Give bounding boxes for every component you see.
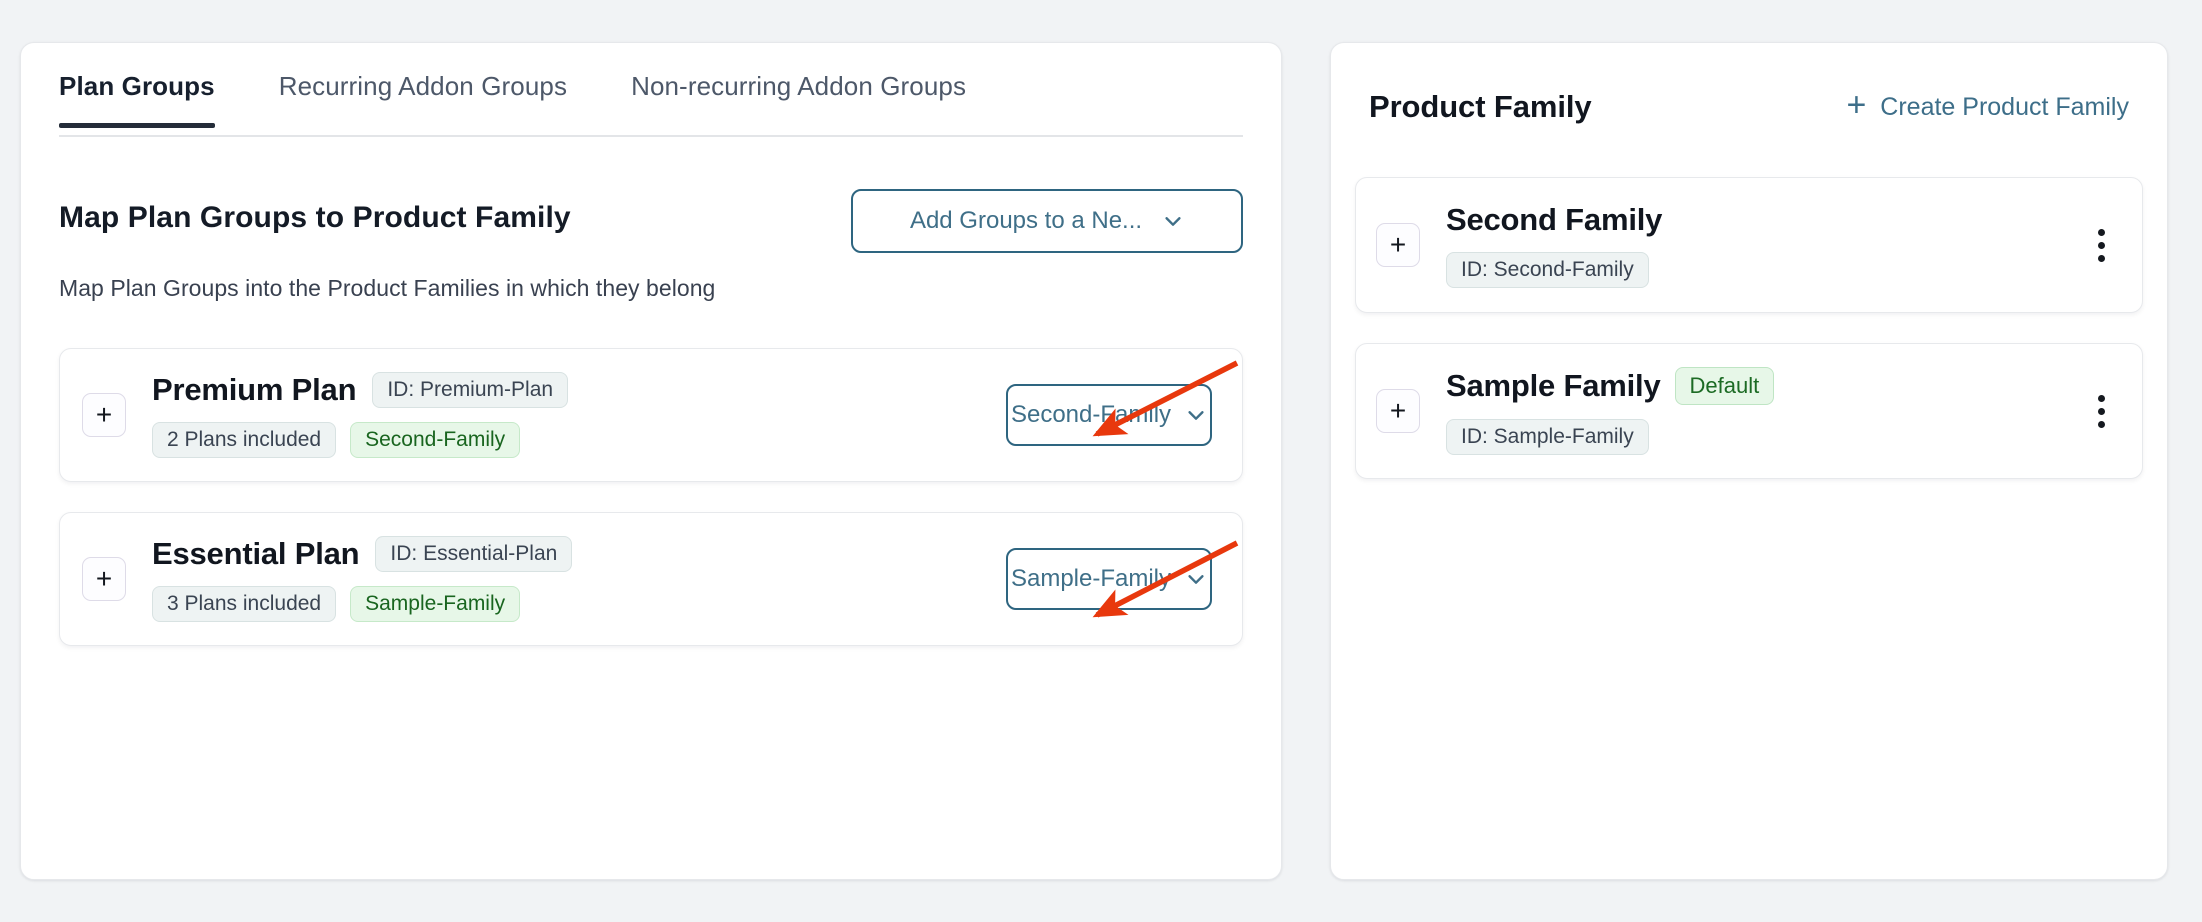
expand-plus-icon[interactable]: + (82, 393, 126, 437)
family-select-value: Sample-Family (1011, 565, 1171, 593)
plan-group-meta-row: 2 Plans included Second-Family (152, 422, 1006, 458)
list-item[interactable]: + Sample Family Default ID: Sample-Famil… (1355, 343, 2143, 479)
plan-group-info: Premium Plan ID: Premium-Plan 2 Plans in… (152, 372, 1006, 458)
tab-recurring-addon-groups[interactable]: Recurring Addon Groups (279, 43, 567, 102)
kebab-menu-icon[interactable] (2086, 389, 2116, 433)
product-family-info: Sample Family Default ID: Sample-Family (1446, 367, 2086, 455)
section-header: Map Plan Groups to Product Family Add Gr… (59, 189, 1243, 253)
chevron-down-icon (1162, 210, 1184, 232)
tab-plan-groups[interactable]: Plan Groups (59, 43, 215, 102)
add-groups-select[interactable]: Add Groups to a Ne... (851, 189, 1243, 253)
tab-plan-groups-label: Plan Groups (59, 71, 215, 101)
tab-non-recurring-addon-groups-label: Non-recurring Addon Groups (631, 71, 966, 101)
tab-bar: Plan Groups Recurring Addon Groups Non-r… (59, 43, 1243, 137)
plan-group-info: Essential Plan ID: Essential-Plan 3 Plan… (152, 536, 1006, 622)
chevron-down-icon (1185, 404, 1207, 426)
plus-icon: + (1846, 88, 1866, 122)
product-family-info: Second Family ID: Second-Family (1446, 202, 2086, 288)
plans-included-badge: 3 Plans included (152, 586, 336, 622)
kebab-menu-icon[interactable] (2086, 223, 2116, 267)
assigned-family-badge: Second-Family (350, 422, 520, 458)
plan-group-name: Essential Plan (152, 536, 359, 572)
chevron-down-icon (1185, 568, 1207, 590)
add-groups-select-value: Add Groups to a Ne... (910, 207, 1142, 235)
create-product-family-button[interactable]: + Create Product Family (1846, 90, 2129, 124)
expand-plus-icon[interactable]: + (1376, 389, 1420, 433)
plan-group-id-badge: ID: Premium-Plan (372, 372, 568, 408)
table-row[interactable]: + Essential Plan ID: Essential-Plan 3 Pl… (59, 512, 1243, 646)
assigned-family-badge: Sample-Family (350, 586, 520, 622)
family-select-essential-plan[interactable]: Sample-Family (1006, 548, 1212, 610)
product-family-title-row: Second Family (1446, 202, 2086, 238)
product-family-title-row: Sample Family Default (1446, 367, 2086, 405)
product-family-meta-row: ID: Second-Family (1446, 252, 2086, 288)
plan-group-title-row: Premium Plan ID: Premium-Plan (152, 372, 1006, 408)
product-family-title: Product Family (1369, 89, 1592, 125)
plan-group-list: + Premium Plan ID: Premium-Plan 2 Plans … (59, 348, 1243, 646)
plan-group-title-row: Essential Plan ID: Essential-Plan (152, 536, 1006, 572)
expand-plus-icon[interactable]: + (1376, 223, 1420, 267)
product-family-header: Product Family + Create Product Family (1331, 43, 2167, 125)
tab-non-recurring-addon-groups[interactable]: Non-recurring Addon Groups (631, 43, 966, 102)
product-family-name: Second Family (1446, 202, 1662, 238)
family-select-value: Second-Family (1011, 401, 1171, 429)
product-family-list: + Second Family ID: Second-Family + Samp… (1331, 125, 2167, 479)
section-subtitle: Map Plan Groups into the Product Familie… (59, 275, 1243, 302)
create-product-family-label: Create Product Family (1880, 93, 2129, 122)
list-item[interactable]: + Second Family ID: Second-Family (1355, 177, 2143, 313)
product-family-id-badge: ID: Second-Family (1446, 252, 1649, 288)
product-family-name: Sample Family (1446, 368, 1661, 404)
plan-group-meta-row: 3 Plans included Sample-Family (152, 586, 1006, 622)
product-family-id-badge: ID: Sample-Family (1446, 419, 1649, 455)
product-family-meta-row: ID: Sample-Family (1446, 419, 2086, 455)
plans-included-badge: 2 Plans included (152, 422, 336, 458)
family-select-premium-plan[interactable]: Second-Family (1006, 384, 1212, 446)
app-screen: Plan Groups Recurring Addon Groups Non-r… (0, 0, 2202, 922)
tab-recurring-addon-groups-label: Recurring Addon Groups (279, 71, 567, 101)
plan-group-name: Premium Plan (152, 372, 356, 408)
status-badge: Default (1675, 367, 1775, 405)
expand-plus-icon[interactable]: + (82, 557, 126, 601)
table-row[interactable]: + Premium Plan ID: Premium-Plan 2 Plans … (59, 348, 1243, 482)
plan-groups-panel: Plan Groups Recurring Addon Groups Non-r… (20, 42, 1282, 880)
page-title: Map Plan Groups to Product Family (59, 189, 571, 235)
plan-group-id-badge: ID: Essential-Plan (375, 536, 572, 572)
product-family-panel: Product Family + Create Product Family +… (1330, 42, 2168, 880)
